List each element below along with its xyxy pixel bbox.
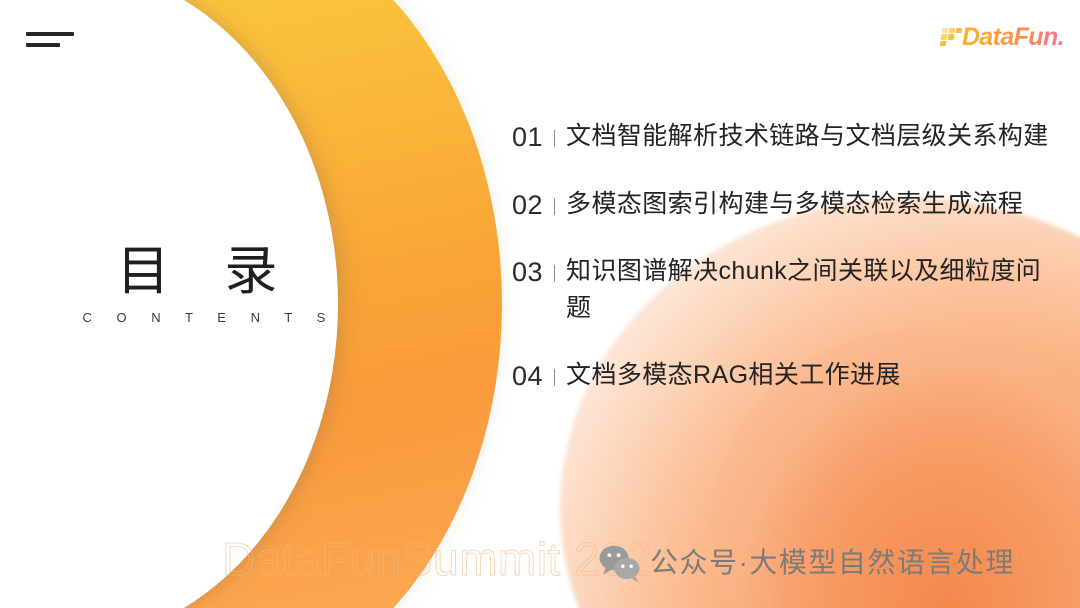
agenda-item-number: 03 [512,253,543,291]
datafun-logo: DataFun. [941,22,1064,52]
datafun-logo-dots-icon [940,28,963,46]
agenda-item-separator [554,265,555,282]
slide-canvas: DataFun. 目 录 C O N T E N T S 01 文档智能解析技术… [0,0,1080,608]
agenda-item-number: 04 [512,357,543,395]
menu-mark-icon [26,30,88,52]
agenda-list: 01 文档智能解析技术链路与文档层级关系构建 02 多模态图索引构建与多模态检索… [512,118,1052,395]
wechat-footer-label: 公众号·大模型自然语言处理 [650,549,1015,577]
agenda-item-separator [554,369,555,386]
menu-mark-bar-bottom [26,43,60,47]
contents-title-en: C O N T E N T S [72,310,322,325]
agenda-item-separator [554,130,555,147]
agenda-item-number: 01 [512,118,543,156]
wechat-icon [597,543,643,583]
agenda-item[interactable]: 02 多模态图索引构建与多模态检索生成流程 [512,186,1052,224]
agenda-item[interactable]: 04 文档多模态RAG相关工作进展 [512,357,1052,395]
agenda-item-number: 02 [512,186,543,224]
agenda-item-label: 文档智能解析技术链路与文档层级关系构建 [566,118,1052,155]
datafun-logo-wordmark: DataFun. [962,25,1064,50]
agenda-item[interactable]: 03 知识图谱解决chunk之间关联以及细粒度问题 [512,253,1052,327]
agenda-item-separator [554,198,555,215]
agenda-item-label: 文档多模态RAG相关工作进展 [566,357,1052,394]
contents-heading: 目 录 C O N T E N T S [72,243,322,325]
agenda-item-label: 知识图谱解决chunk之间关联以及细粒度问题 [566,253,1052,327]
agenda-item-label: 多模态图索引构建与多模态检索生成流程 [566,186,1052,223]
wechat-footer: 公众号·大模型自然语言处理 [597,543,1015,583]
agenda-item[interactable]: 01 文档智能解析技术链路与文档层级关系构建 [512,118,1052,156]
contents-title-cn: 目 录 [72,243,322,300]
menu-mark-bar-top [26,32,74,36]
